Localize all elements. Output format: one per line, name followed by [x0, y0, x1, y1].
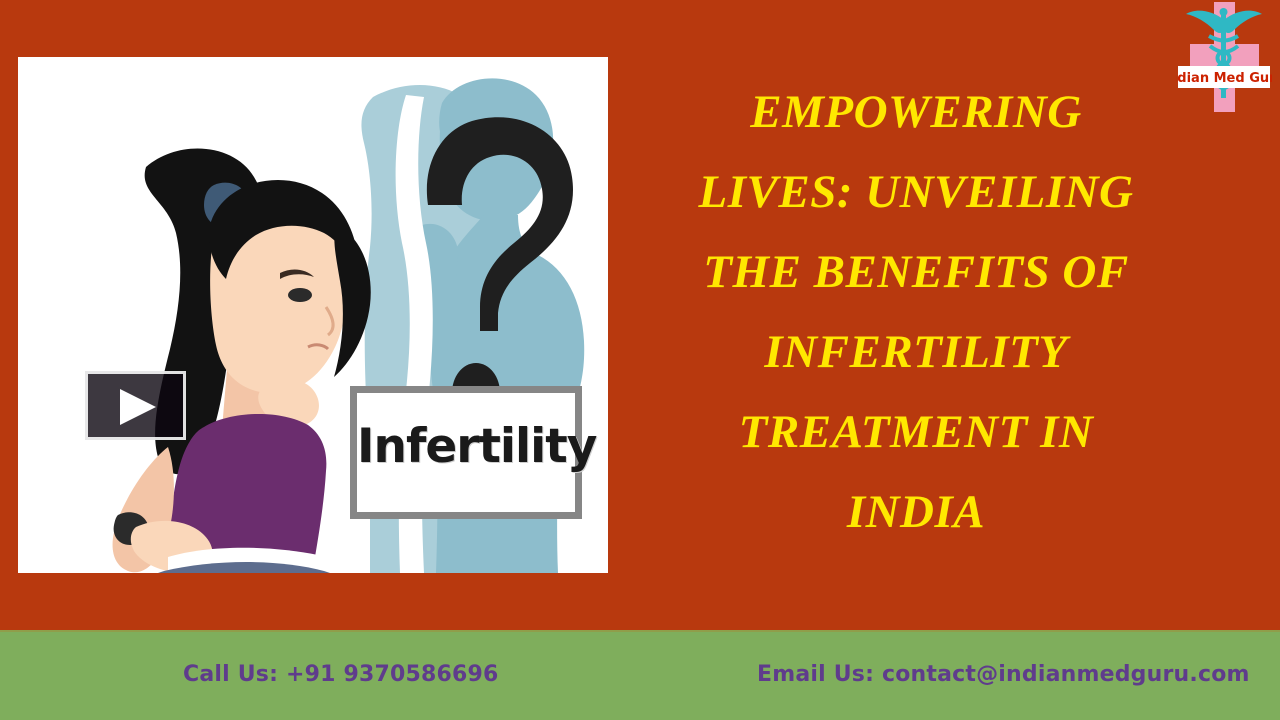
video-thumbnail-panel[interactable]: Infertility	[18, 57, 608, 573]
slide-canvas: Infertility EMPOWERING LIVES: UNVEILING …	[0, 0, 1280, 720]
call-us-text[interactable]: Call Us: +91 9370586696	[183, 662, 499, 687]
title-line-2: LIVES: UNVEILING	[632, 152, 1200, 232]
title-line-6: INDIA	[632, 472, 1200, 552]
play-button[interactable]	[85, 371, 186, 440]
email-us-text[interactable]: Email Us: contact@indianmedguru.com	[757, 662, 1250, 687]
infertility-caption-text: Infertility	[357, 419, 575, 474]
play-triangle-icon	[120, 389, 156, 425]
contact-footer: Call Us: +91 9370586696 Email Us: contac…	[0, 630, 1280, 720]
title-line-1: EMPOWERING	[632, 72, 1200, 152]
indian-med-guru-logo[interactable]: Indian Med Guru	[1176, 2, 1272, 112]
page-title: EMPOWERING LIVES: UNVEILING THE BENEFITS…	[632, 72, 1200, 552]
title-line-4: INFERTILITY	[632, 312, 1200, 392]
logo-text: Indian Med Guru	[1176, 71, 1272, 86]
title-line-5: TREATMENT IN	[632, 392, 1200, 472]
title-line-3: THE BENEFITS OF	[632, 232, 1200, 312]
logo-artwork: Indian Med Guru	[1176, 2, 1272, 112]
infertility-caption-box: Infertility	[350, 386, 582, 519]
